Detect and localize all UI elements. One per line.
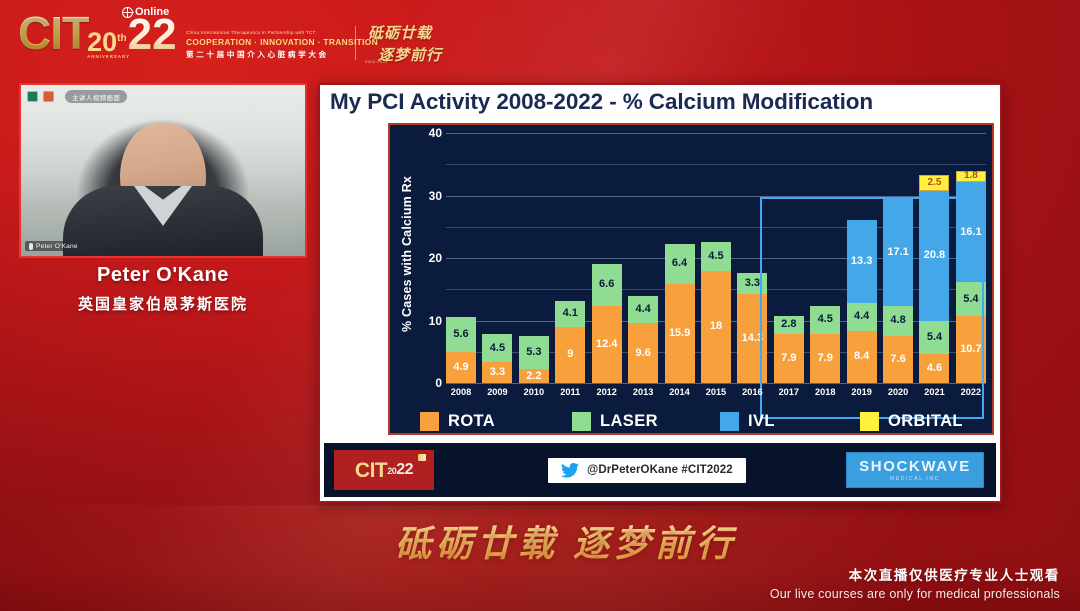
legend-swatch — [572, 412, 591, 431]
x-axis-tick: 2022 — [956, 387, 986, 401]
chart-legend: ROTALASERIVLORBITAL — [420, 408, 982, 434]
bar-segment-laser: 4.5 — [482, 334, 512, 362]
x-axis-tick: 2011 — [555, 387, 585, 401]
y-axis-tick: 40 — [416, 126, 442, 140]
event-subtitle-block: China International Therapeutics in Part… — [186, 30, 378, 60]
video-nameplate: Peter O'Kane — [25, 241, 85, 251]
bar-group: 5.64.94.53.35.32.24.196.612.44.49.66.415… — [446, 133, 986, 383]
bar-value-label: 20.8 — [924, 250, 945, 261]
x-axis-tick: 2016 — [737, 387, 767, 401]
chart-plot: 5.64.94.53.35.32.24.196.612.44.49.66.415… — [446, 133, 986, 383]
bar-value-label: 12.4 — [596, 339, 617, 350]
bar-value-label: 4.5 — [708, 251, 723, 262]
legend-item-orbital[interactable]: ORBITAL — [860, 412, 963, 431]
bar-column: 4.49.6 — [628, 133, 658, 383]
x-axis-tick: 2009 — [482, 387, 512, 401]
shockwave-subtitle: MEDICAL INC — [890, 476, 940, 482]
bar-value-label: 5.4 — [927, 332, 942, 343]
online-badge: Online — [122, 6, 169, 18]
bar-value-label: 17.1 — [887, 247, 908, 258]
x-axis-tick: 2010 — [519, 387, 549, 401]
bar-segment-rota: 9.6 — [628, 323, 658, 383]
speaker-caption: Peter O'Kane 英国皇家伯恩茅斯医院 — [19, 264, 307, 314]
footer-cit-text: CIT — [355, 460, 387, 481]
banner-calligraphy: 砥砺廿载 逐梦前行 — [395, 515, 737, 567]
bar-segment-laser: 4.5 — [701, 242, 731, 270]
bar-segment-laser: 6.4 — [665, 244, 695, 284]
legend-label: ROTA — [448, 412, 495, 431]
bar-value-label: 4.9 — [453, 362, 468, 373]
bar-value-label: 4.6 — [927, 363, 942, 374]
x-axis-tick: 2017 — [774, 387, 804, 401]
bar-value-label: 7.9 — [781, 353, 796, 364]
bar-segment-rota: 2.2 — [519, 369, 549, 383]
gridline — [446, 383, 986, 384]
bar-value-label: 4.1 — [563, 308, 578, 319]
bar-segment-rota: 12.4 — [592, 306, 622, 384]
bar-value-label: 2.2 — [526, 371, 541, 382]
bar-value-label: 10.7 — [960, 344, 981, 355]
bar-value-label: 9 — [567, 349, 573, 360]
legend-swatch — [720, 412, 739, 431]
y-axis-label: % Cases with Calcium Rx — [396, 125, 418, 383]
header-calligraphy-years: 2002-2022 — [365, 59, 388, 64]
y-axis-label-text: % Cases with Calcium Rx — [400, 176, 414, 332]
bar-segment-orbital: 2.5 — [919, 175, 949, 191]
bar-value-label: 3.3 — [745, 278, 760, 289]
bar-column: 2.87.9 — [774, 133, 804, 383]
x-axis-ticks: 2008200920102011201220132014201520162017… — [446, 387, 986, 401]
bar-column: 5.32.2 — [519, 133, 549, 383]
legend-item-ivl[interactable]: IVL — [720, 412, 775, 431]
video-feed — [21, 85, 305, 256]
microphone-icon — [29, 243, 33, 250]
legend-label: ORBITAL — [888, 412, 963, 431]
bar-column: 6.612.4 — [592, 133, 622, 383]
event-subtitle-cn: 第二十届中国介入心脏病学大会 — [186, 49, 378, 60]
x-axis-tick: 2014 — [665, 387, 695, 401]
bar-segment-laser: 4.1 — [555, 301, 585, 327]
event-subtitle-en-small: China International Therapeutics in Part… — [186, 30, 378, 35]
footer-cit-year: 2022 — [387, 461, 413, 479]
y-axis-tick: 10 — [416, 314, 442, 328]
legend-label: LASER — [600, 412, 658, 431]
bar-value-label: 13.3 — [851, 256, 872, 267]
bar-column: 4.518 — [701, 133, 731, 383]
bar-segment-laser: 5.6 — [446, 317, 476, 352]
disclaimer-cn: 本次直播仅供医疗专业人士观看 — [770, 564, 1060, 584]
bar-value-label: 16.1 — [960, 227, 981, 238]
speaker-video-panel[interactable]: 主讲人视频画面 Peter O'Kane — [19, 83, 307, 258]
bar-column: 4.57.9 — [810, 133, 840, 383]
bar-value-label: 4.5 — [818, 314, 833, 325]
bar-value-label: 1.8 — [964, 171, 978, 181]
bar-value-label: 4.5 — [490, 343, 505, 354]
bar-value-label: 8.4 — [854, 351, 869, 362]
slide-title: My PCI Activity 2008-2022 - % Calcium Mo… — [330, 89, 990, 121]
bar-column: 13.34.48.4 — [847, 133, 877, 383]
legend-label: IVL — [748, 412, 775, 431]
bar-segment-rota: 10.7 — [956, 316, 986, 383]
legend-swatch — [860, 412, 879, 431]
bar-column: 6.415.9 — [665, 133, 695, 383]
bar-segment-rota: 7.9 — [810, 334, 840, 383]
y-axis-tick: 0 — [416, 376, 442, 390]
bar-segment-laser: 5.4 — [956, 282, 986, 316]
bar-value-label: 18 — [710, 321, 722, 332]
bar-segment-laser: 4.5 — [810, 306, 840, 334]
bar-segment-rota: 14.3 — [737, 294, 767, 383]
cit-logo-20-number: 20 — [87, 27, 117, 57]
bar-segment-laser: 5.4 — [919, 321, 949, 355]
chart-container: % Cases with Calcium Rx 010203040 5.64.9… — [388, 123, 994, 435]
twitter-icon — [561, 463, 579, 478]
globe-icon — [122, 7, 133, 18]
bottom-banner: 砥砺廿载 逐梦前行 本次直播仅供医疗专业人士观看 Our live course… — [0, 505, 1080, 611]
bar-segment-orbital: 1.8 — [956, 171, 986, 182]
event-subtitle-en-big: COOPERATION · INNOVATION · TRANSITION — [186, 37, 378, 47]
y-axis-tick: 30 — [416, 189, 442, 203]
x-axis-tick: 2020 — [883, 387, 913, 401]
bar-value-label: 2.5 — [928, 178, 942, 188]
legend-swatch — [420, 412, 439, 431]
bar-segment-ivl: 13.3 — [847, 220, 877, 303]
speaker-name: Peter O'Kane — [19, 264, 307, 287]
disclaimer-block: 本次直播仅供医疗专业人士观看 Our live courses are only… — [770, 564, 1060, 601]
header-calligraphy: 砥砺廿载 逐梦前行 2002-2022 — [368, 22, 458, 66]
disclaimer-en: Our live courses are only for medical pr… — [770, 587, 1060, 601]
online-label: Online — [135, 6, 169, 18]
bar-value-label: 7.6 — [890, 354, 905, 365]
bar-column: 3.314.3 — [737, 133, 767, 383]
bar-segment-laser: 6.6 — [592, 264, 622, 305]
video-nameplate-label: Peter O'Kane — [36, 243, 78, 250]
footer-cit-logo: CIT 2022 — [334, 450, 434, 490]
video-status-badges: 主讲人视频画面 — [27, 90, 127, 103]
bar-column: 4.19 — [555, 133, 585, 383]
bar-segment-rota: 4.9 — [446, 352, 476, 383]
bar-value-label: 4.4 — [635, 304, 650, 315]
bar-value-label: 7.9 — [818, 353, 833, 364]
x-axis-tick: 2021 — [919, 387, 949, 401]
slide-footer: CIT 2022 @DrPeterOKane #CIT2022 SHOCKWAV… — [324, 443, 996, 497]
bar-segment-rota: 3.3 — [482, 362, 512, 383]
twitter-handle-badge[interactable]: @DrPeterOKane #CIT2022 — [548, 458, 746, 483]
cit-logo-word: CIT — [18, 10, 89, 56]
bar-column: 17.14.87.6 — [883, 133, 913, 383]
bar-segment-laser: 5.3 — [519, 336, 549, 369]
bar-segment-rota: 18 — [701, 271, 731, 384]
bar-column: 5.64.9 — [446, 133, 476, 383]
bar-segment-laser: 3.3 — [737, 273, 767, 294]
bar-segment-laser: 4.8 — [883, 306, 913, 336]
header-calligraphy-line1: 砥砺廿载 — [368, 22, 458, 43]
x-axis-tick: 2012 — [592, 387, 622, 401]
cit-logo-20-sup: th — [117, 33, 126, 44]
x-axis-tick: 2015 — [701, 387, 731, 401]
bar-value-label: 4.8 — [890, 315, 905, 326]
legend-item-laser[interactable]: LASER — [572, 412, 658, 431]
x-axis-tick: 2008 — [446, 387, 476, 401]
bar-column: 2.520.85.44.6 — [919, 133, 949, 383]
bar-value-label: 5.4 — [963, 294, 978, 305]
x-axis-tick: 2013 — [628, 387, 658, 401]
bar-segment-laser: 2.8 — [774, 316, 804, 334]
presentation-slide[interactable]: My PCI Activity 2008-2022 - % Calcium Mo… — [318, 83, 1002, 503]
twitter-handle-label: @DrPeterOKane #CIT2022 — [587, 464, 733, 476]
cit-logo-20: 20th ANNIVERSARY — [87, 29, 127, 56]
bar-value-label: 3.3 — [490, 367, 505, 378]
y-axis-tick: 20 — [416, 251, 442, 265]
footer-cit-year-small: 20 — [387, 466, 396, 476]
video-status-icon — [27, 91, 38, 102]
x-axis-tick: 2019 — [847, 387, 877, 401]
bar-segment-rota: 8.4 — [847, 331, 877, 384]
bar-value-label: 15.9 — [669, 328, 690, 339]
event-header: CIT 20th ANNIVERSARY 22 Online China Int… — [0, 0, 1080, 76]
bar-value-label: 5.6 — [453, 329, 468, 340]
cit-logo-year: 22 — [128, 14, 177, 56]
x-axis-tick: 2018 — [810, 387, 840, 401]
video-badge-label: 主讲人视频画面 — [65, 90, 127, 103]
bar-value-label: 2.8 — [781, 319, 796, 330]
header-divider — [355, 26, 356, 60]
legend-item-rota[interactable]: ROTA — [420, 412, 495, 431]
bar-value-label: 4.4 — [854, 311, 869, 322]
bar-segment-rota: 4.6 — [919, 354, 949, 383]
bar-segment-ivl: 20.8 — [919, 191, 949, 321]
bar-segment-rota: 7.9 — [774, 334, 804, 383]
bar-segment-laser: 4.4 — [847, 303, 877, 331]
cit-logo-anniversary: ANNIVERSARY — [87, 55, 130, 59]
chart-plot-area: % Cases with Calcium Rx 010203040 5.64.9… — [390, 125, 992, 433]
bar-segment-rota: 15.9 — [665, 284, 695, 383]
bar-value-label: 6.6 — [599, 279, 614, 290]
bar-segment-laser: 4.4 — [628, 296, 658, 324]
speaker-affiliation: 英国皇家伯恩茅斯医院 — [19, 293, 307, 314]
footer-cit-mark-icon — [418, 454, 426, 461]
bar-column: 1.816.15.410.7 — [956, 133, 986, 383]
bar-column: 4.53.3 — [482, 133, 512, 383]
bar-value-label: 5.3 — [526, 347, 541, 358]
shockwave-logo: SHOCKWAVE MEDICAL INC — [846, 452, 984, 488]
bar-segment-rota: 9 — [555, 327, 585, 383]
bar-value-label: 6.4 — [672, 258, 687, 269]
bar-value-label: 14.3 — [742, 333, 763, 344]
bar-value-label: 9.6 — [635, 348, 650, 359]
footer-cit-year-big: 22 — [396, 461, 413, 478]
header-calligraphy-line2: 逐梦前行 — [378, 44, 458, 65]
shockwave-title: SHOCKWAVE — [859, 459, 971, 474]
record-status-icon — [43, 91, 54, 102]
bar-segment-rota: 7.6 — [883, 336, 913, 384]
bar-segment-ivl: 16.1 — [956, 182, 986, 283]
bar-segment-ivl: 17.1 — [883, 199, 913, 306]
